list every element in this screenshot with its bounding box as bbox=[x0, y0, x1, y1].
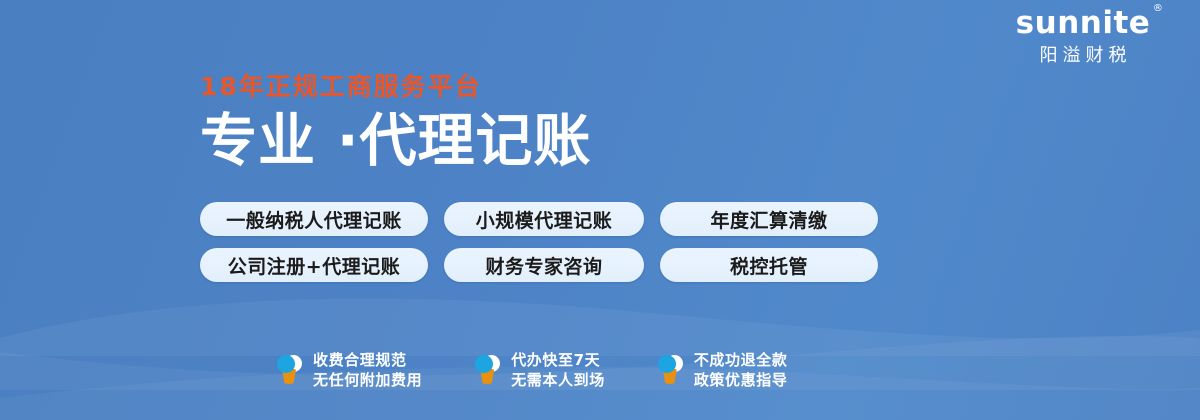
feature-line-1: 收费合理规范 bbox=[313, 351, 407, 369]
service-pill-row: 一般纳税人代理记账 小规模代理记账 年度汇算清缴 bbox=[200, 202, 878, 236]
coin-cup-icon bbox=[657, 353, 685, 387]
service-pill-annual-tax-settlement[interactable]: 年度汇算清缴 bbox=[660, 202, 878, 236]
registered-trademark-icon: ® bbox=[1153, 4, 1164, 14]
service-pill-finance-expert-consulting[interactable]: 财务专家咨询 bbox=[444, 248, 644, 282]
logo-chinese-name: 阳溢财税 bbox=[988, 42, 1178, 68]
feature-line-2: 政策优惠指导 bbox=[694, 371, 788, 389]
feature-item-speed: 代办快至7天 无需本人到场 bbox=[474, 350, 605, 390]
feature-line-2: 无任何附加费用 bbox=[313, 371, 422, 389]
hero-headline: 专业 ·代理记账 bbox=[200, 106, 592, 176]
coin-cup-icon bbox=[474, 353, 502, 387]
feature-item-text: 不成功退全款 政策优惠指导 bbox=[694, 350, 788, 390]
brand-logo[interactable]: sunnite ® 阳溢财税 bbox=[988, 6, 1178, 68]
hero-eyebrow: 18年正规工商服务平台 bbox=[200, 70, 592, 104]
logo-wordmark-text: sunnite bbox=[1016, 5, 1151, 41]
feature-item-guarantee: 不成功退全款 政策优惠指导 bbox=[657, 350, 788, 390]
feature-line-1: 代办快至7天 bbox=[511, 351, 600, 369]
coin-cup-icon bbox=[276, 353, 304, 387]
service-pill-grid: 一般纳税人代理记账 小规模代理记账 年度汇算清缴 公司注册+代理记账 财务专家咨… bbox=[200, 202, 878, 282]
logo-wordmark: sunnite ® bbox=[1016, 6, 1151, 40]
feature-list: 收费合理规范 无任何附加费用 代办快至7天 无需本人到场 不成功退全款 bbox=[276, 350, 787, 390]
service-pill-small-scale-bookkeeping[interactable]: 小规模代理记账 bbox=[444, 202, 644, 236]
service-pill-general-taxpayer-bookkeeping[interactable]: 一般纳税人代理记账 bbox=[200, 202, 428, 236]
feature-item-pricing: 收费合理规范 无任何附加费用 bbox=[276, 350, 422, 390]
feature-line-1: 不成功退全款 bbox=[694, 351, 788, 369]
service-pill-company-registration-bookkeeping[interactable]: 公司注册+代理记账 bbox=[200, 248, 428, 282]
feature-item-text: 收费合理规范 无任何附加费用 bbox=[313, 350, 422, 390]
feature-line-2: 无需本人到场 bbox=[511, 371, 605, 389]
service-pill-row: 公司注册+代理记账 财务专家咨询 税控托管 bbox=[200, 248, 878, 282]
service-pill-tax-control-hosting[interactable]: 税控托管 bbox=[660, 248, 878, 282]
promo-banner: sunnite ® 阳溢财税 18年正规工商服务平台 专业 ·代理记账 一般纳税… bbox=[0, 0, 1200, 420]
feature-item-text: 代办快至7天 无需本人到场 bbox=[511, 350, 605, 390]
hero-text-block: 18年正规工商服务平台 专业 ·代理记账 bbox=[200, 70, 592, 176]
